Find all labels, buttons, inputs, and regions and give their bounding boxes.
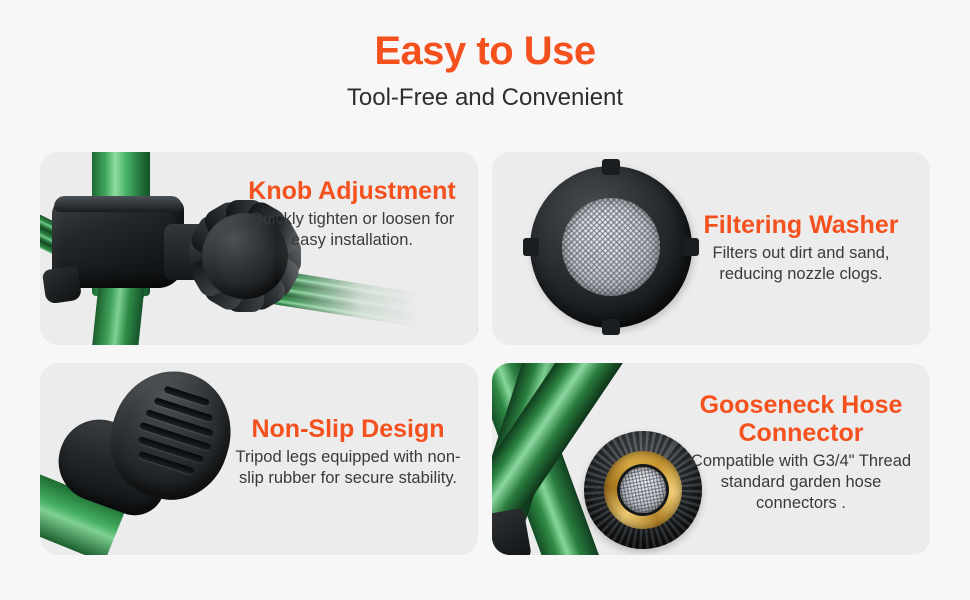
- feature-text-block: Gooseneck Hose Connector Compatible with…: [682, 391, 920, 514]
- feature-card-filtering-washer: Filtering Washer Filters out dirt and sa…: [492, 152, 930, 345]
- page-subtitle: Tool-Free and Convenient: [0, 84, 970, 112]
- feature-heading: Filtering Washer: [682, 211, 920, 239]
- feature-text-block: Knob Adjustment Quickly tighten or loose…: [238, 177, 466, 251]
- feature-grid: Knob Adjustment Quickly tighten or loose…: [40, 152, 930, 555]
- page-title: Easy to Use: [0, 30, 970, 72]
- page-header: Easy to Use Tool-Free and Convenient: [0, 0, 970, 112]
- feature-card-non-slip-design: Non-Slip Design Tripod legs equipped wit…: [40, 363, 478, 555]
- feature-heading: Knob Adjustment: [238, 177, 466, 205]
- mesh-screen: [562, 198, 660, 296]
- feature-heading: Non-Slip Design: [228, 415, 468, 443]
- feature-card-knob-adjustment: Knob Adjustment Quickly tighten or loose…: [40, 152, 478, 345]
- feature-text-block: Filtering Washer Filters out dirt and sa…: [682, 211, 920, 285]
- washer-icon: [530, 166, 692, 328]
- feature-text-block: Non-Slip Design Tripod legs equipped wit…: [228, 415, 468, 489]
- feature-body: Quickly tighten or loosen for easy insta…: [238, 209, 466, 251]
- feature-body: Compatible with G3/4" Thread standard ga…: [682, 451, 920, 514]
- feature-card-gooseneck-hose-connector: Gooseneck Hose Connector Compatible with…: [492, 363, 930, 555]
- feature-heading: Gooseneck Hose Connector: [682, 391, 920, 447]
- feature-body: Filters out dirt and sand, reducing nozz…: [682, 243, 920, 285]
- feature-body: Tripod legs equipped with non-slip rubbe…: [228, 447, 468, 489]
